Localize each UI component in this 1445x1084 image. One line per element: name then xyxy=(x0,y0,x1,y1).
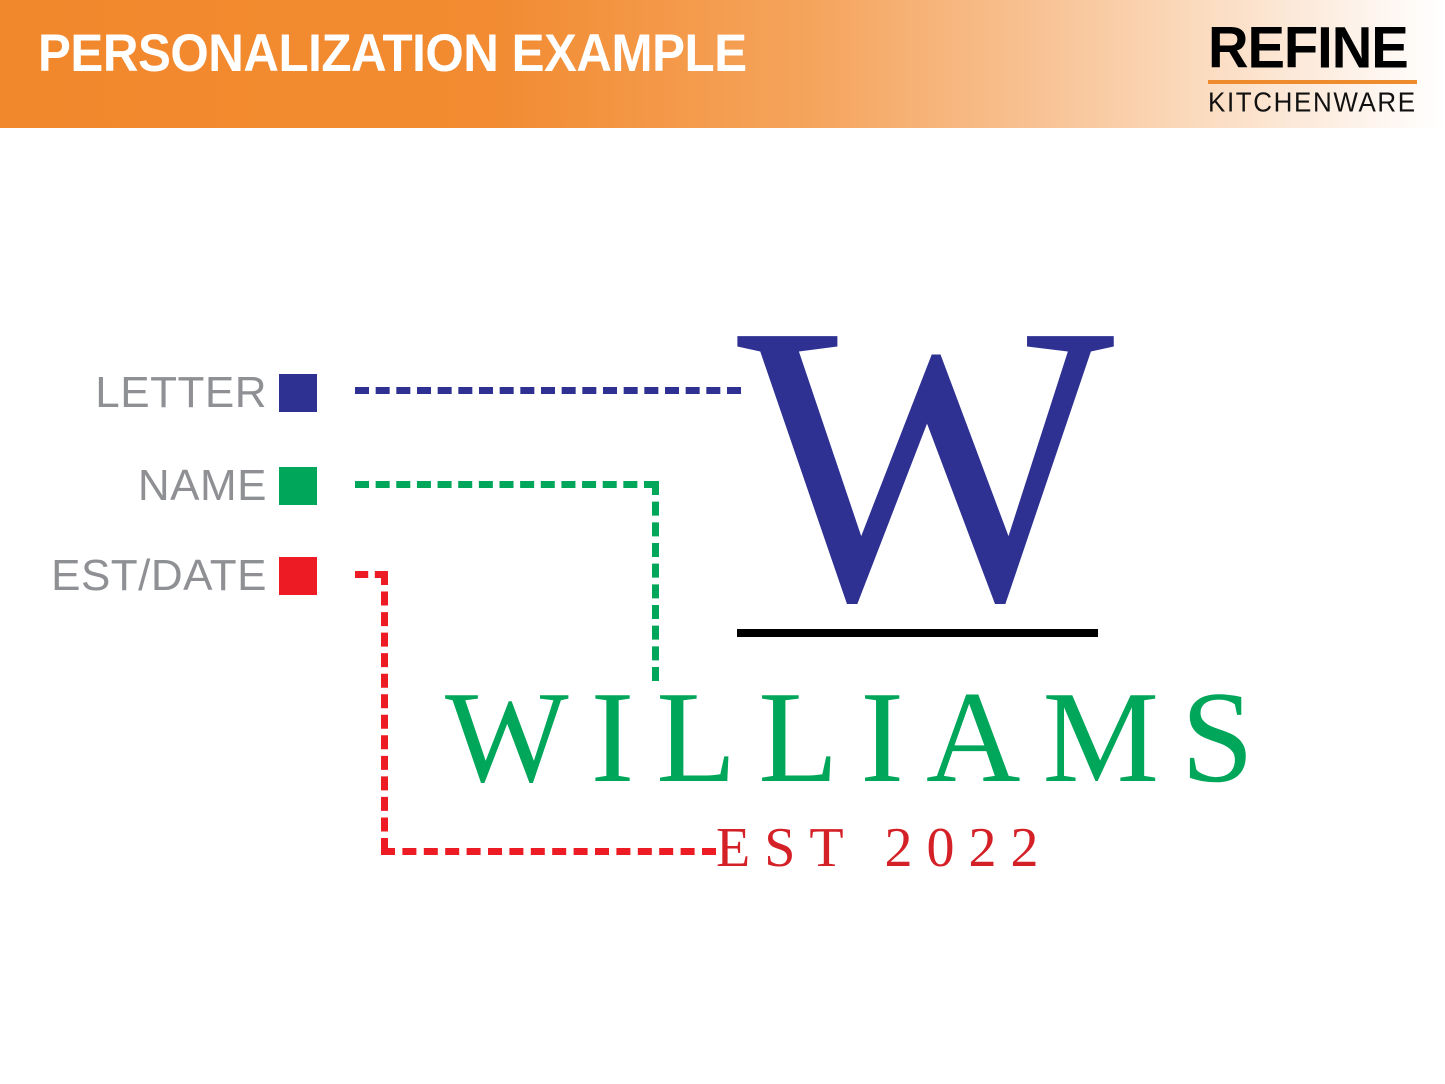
legend-item-est-date-label: EST/DATE xyxy=(51,554,279,598)
legend-item-letter-label: LETTER xyxy=(95,371,279,415)
connector-line-name-horizontal xyxy=(355,481,658,488)
brand-logo-divider xyxy=(1208,80,1417,84)
monogram-family-name: WILLIAMS xyxy=(445,672,1405,803)
legend-item-name: NAME xyxy=(42,464,317,508)
legend-item-est-date: EST/DATE xyxy=(42,554,317,598)
legend-swatch-name xyxy=(279,467,317,505)
monogram-initial: W xyxy=(737,300,1099,628)
page-title: PERSONALIZATION EXAMPLE xyxy=(38,27,747,80)
monogram-established-date: EST 2022 xyxy=(716,820,1053,876)
brand-logo-secondary-text: KITCHENWARE xyxy=(1208,88,1421,117)
legend-swatch-letter xyxy=(279,374,317,412)
brand-logo: REFINE KITCHENWARE xyxy=(1208,20,1421,115)
legend-item-letter: LETTER xyxy=(42,371,317,415)
legend-swatch-est-date xyxy=(279,557,317,595)
connector-line-est-date-horizontal-bottom xyxy=(381,848,716,855)
connector-line-name-vertical xyxy=(652,481,659,681)
legend-item-name-label: NAME xyxy=(138,464,279,508)
connector-line-letter xyxy=(355,387,741,394)
connector-line-est-date-vertical xyxy=(381,571,388,852)
brand-logo-primary-text: REFINE xyxy=(1208,20,1434,77)
monogram-divider-rule xyxy=(737,629,1098,637)
personalization-example-slide: PERSONALIZATION EXAMPLE REFINE KITCHENWA… xyxy=(0,0,1445,1084)
header-banner: PERSONALIZATION EXAMPLE REFINE KITCHENWA… xyxy=(0,0,1445,128)
